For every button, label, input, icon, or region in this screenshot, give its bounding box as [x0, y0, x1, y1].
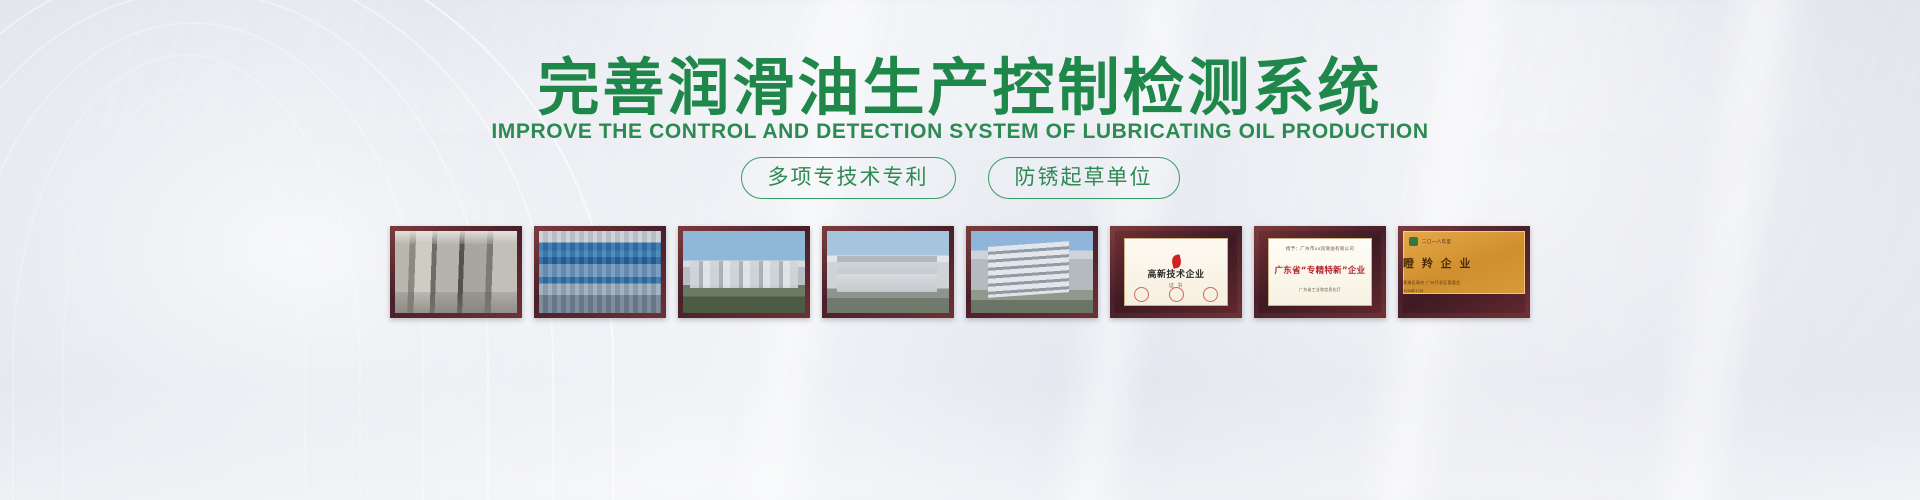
plaque-gazelle-org: 黄埔区政府 广州开发区管委会 — [1403, 280, 1525, 286]
photo-blending-equipment[interactable] — [534, 226, 666, 318]
photo-production-line[interactable] — [390, 226, 522, 318]
banner-content: 完善润滑油生产控制检测系统 IMPROVE THE CONTROL AND DE… — [0, 0, 1920, 500]
certificate-specialized-paper: 授予：广州市xx润滑油有限公司 广东省“专精特新”企业 广东省工业和信息化厅 — [1268, 238, 1373, 307]
certificate-high-tech-title: 高新技术企业 — [1147, 270, 1204, 280]
certificate-specialized-title: 广东省“专精特新”企业 — [1275, 264, 1366, 276]
certificate-high-tech-paper: 高新技术企业 证 书 — [1124, 238, 1229, 307]
tag-patents[interactable]: 多项专技术专利 — [741, 157, 956, 199]
tag-antirust-standard[interactable]: 防锈起草单位 — [988, 157, 1180, 199]
certificate-specialized-new[interactable]: 授予：广州市xx润滑油有限公司 广东省“专精特新”企业 广东省工业和信息化厅 — [1254, 226, 1386, 318]
photo-storage-tanks-image — [683, 231, 805, 313]
plaque-gazelle-enterprise[interactable]: 二〇一八年度 瞪 羚 企 业 黄埔区政府 广州开发区管委会 2018年12月 — [1398, 226, 1530, 318]
stamp-icon-right — [1203, 287, 1218, 302]
stamp-icon-mid — [1169, 287, 1184, 302]
photo-office-building-image — [971, 231, 1093, 313]
gallery-strip: 高新技术企业 证 书 授予：广州市xx润滑油有限公司 广东省“专精特新”企业 广… — [0, 226, 1920, 318]
photo-factory-exterior[interactable] — [822, 226, 954, 318]
certificate-specialized-header: 授予：广州市xx润滑油有限公司 — [1286, 246, 1354, 252]
photo-blending-equipment-image — [539, 231, 661, 313]
plaque-gazelle-year: 二〇一八年度 — [1422, 239, 1451, 245]
hero-banner: 完善润滑油生产控制检测系统 IMPROVE THE CONTROL AND DE… — [0, 0, 1920, 500]
certificate-stamps — [1134, 287, 1218, 302]
certificate-high-tech-enterprise[interactable]: 高新技术企业 证 书 — [1110, 226, 1242, 318]
page-title: 完善润滑油生产控制检测系统 — [0, 52, 1920, 124]
photo-factory-exterior-image — [827, 231, 949, 313]
plaque-gazelle-header: 二〇一八年度 — [1409, 237, 1525, 246]
stamp-icon-left — [1134, 287, 1149, 302]
plaque-gazelle-title: 瞪 羚 企 业 — [1403, 255, 1525, 271]
photo-production-line-image — [395, 231, 517, 313]
photo-office-building[interactable] — [966, 226, 1098, 318]
plaque-gazelle-face: 二〇一八年度 瞪 羚 企 业 黄埔区政府 广州开发区管委会 2018年12月 — [1403, 231, 1525, 294]
plaque-gazelle-date: 2018年12月 — [1403, 289, 1525, 294]
page-subtitle: IMPROVE THE CONTROL AND DETECTION SYSTEM… — [0, 119, 1920, 145]
emblem-icon — [1409, 237, 1418, 246]
tag-list: 多项专技术专利 防锈起草单位 — [0, 157, 1920, 199]
certificate-specialized-footer: 广东省工业和信息化厅 — [1299, 287, 1341, 293]
flame-icon — [1170, 254, 1182, 269]
photo-storage-tanks[interactable] — [678, 226, 810, 318]
